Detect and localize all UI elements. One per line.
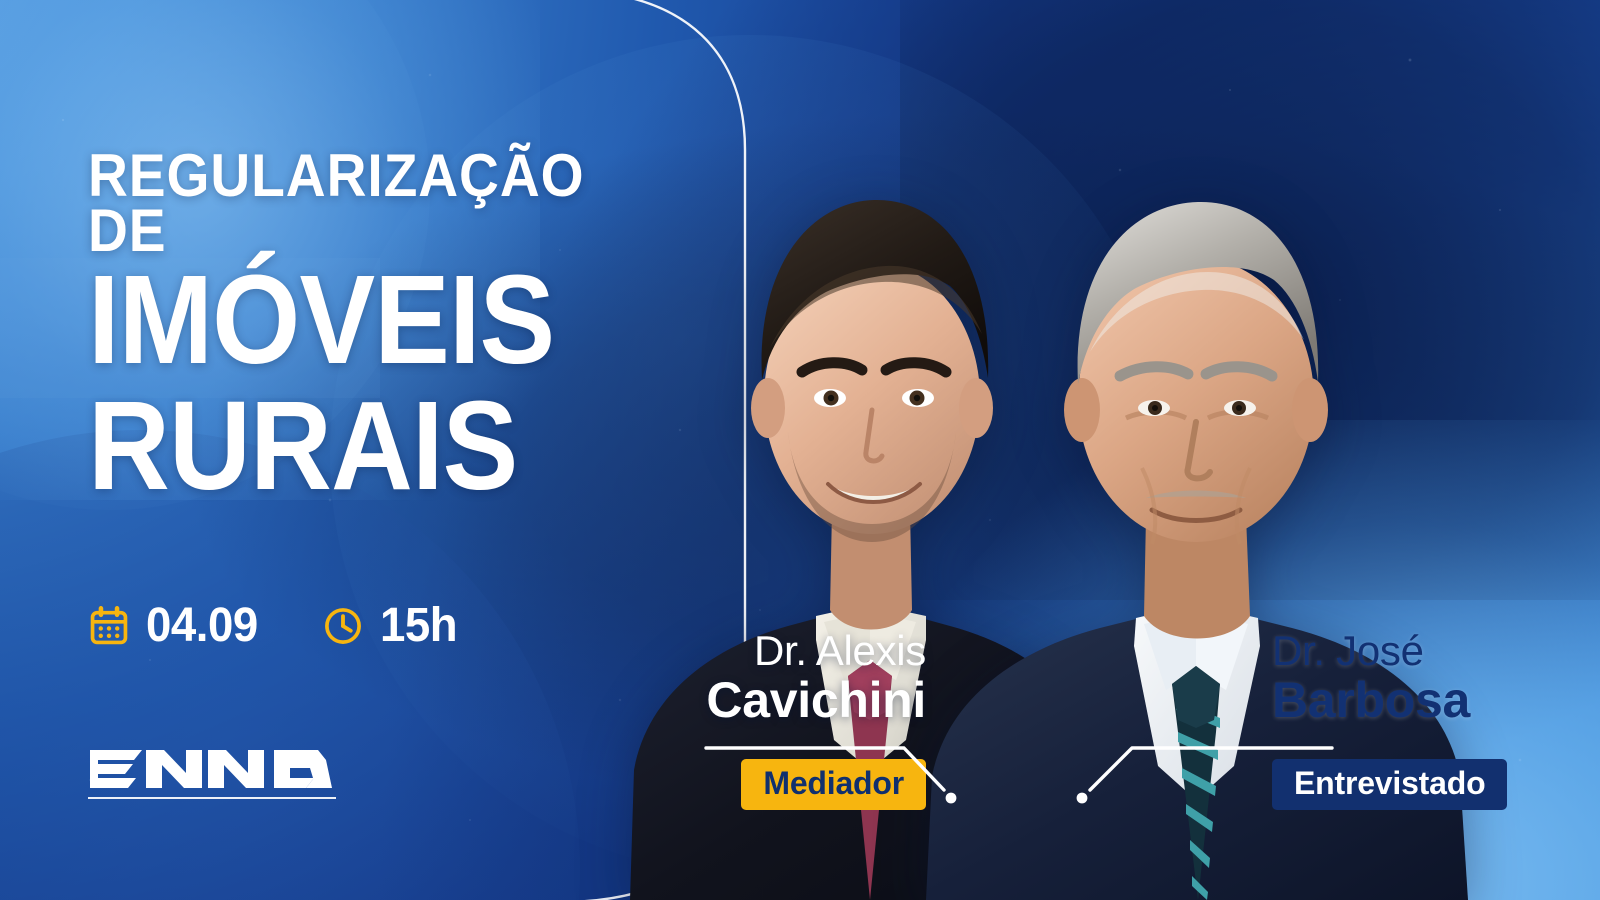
clock-icon [322,605,364,647]
speaker-card-mediador: Dr. Alexis Cavichini Mediador [636,630,926,810]
headline-line-2: IMÓVEIS [88,262,628,378]
speaker-last-name: Cavichini [636,675,926,725]
speaker-name: Dr. José Barbosa [1272,630,1572,725]
event-date-item: 04.09 [88,598,264,653]
speaker-name: Dr. Alexis Cavichini [636,630,926,725]
event-meta-row: 04.09 15h [88,598,461,653]
speaker-last-name: Barbosa [1272,675,1572,725]
ennor-logo [88,746,338,799]
event-date: 04.09 [146,598,258,653]
event-time-item: 15h [322,598,461,653]
event-promo-banner: REGULARIZAÇÃO DE IMÓVEIS RURAIS 0 [0,0,1600,900]
headline-line-1: REGULARIZAÇÃO DE [88,148,640,258]
ennor-wordmark-icon [88,746,336,792]
speaker-connector-line [1032,738,1372,818]
event-time: 15h [380,598,457,653]
speaker-connector-line [636,738,966,818]
speaker-first-name: Dr. José [1272,630,1572,672]
speaker-card-entrevistado: Dr. José Barbosa Entrevistado [1272,630,1572,810]
calendar-icon [88,605,130,647]
headline-line-3: RURAIS [88,388,628,504]
left-content-column: REGULARIZAÇÃO DE IMÓVEIS RURAIS 0 [88,0,708,900]
headline: REGULARIZAÇÃO DE IMÓVEIS RURAIS [88,148,688,504]
speaker-first-name: Dr. Alexis [636,630,926,672]
logo-underline [88,797,336,799]
